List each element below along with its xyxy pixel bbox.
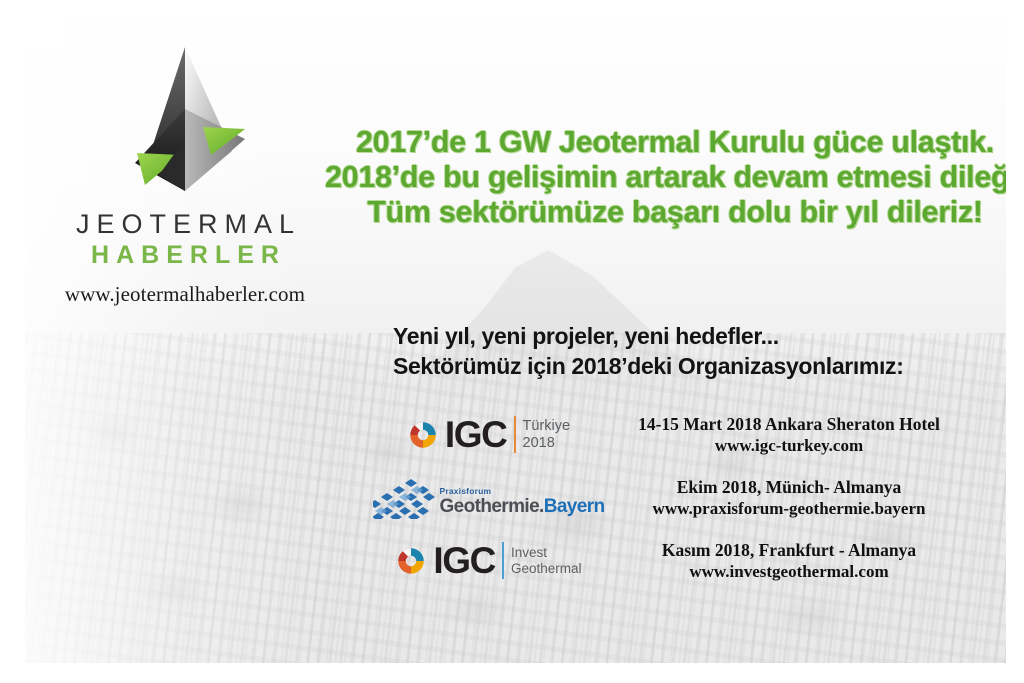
subheading-line-1: Yeni yıl, yeni projeler, yeni hedefler..… — [393, 321, 904, 351]
event-date-venue: Kasım 2018, Frankfurt - Almanya — [593, 540, 985, 561]
event-url[interactable]: www.igc-turkey.com — [593, 435, 985, 456]
events-list: IGC Türkiye 2018 14-15 Mart 2018 Ankara … — [385, 403, 985, 592]
headline-line-2: 2018’de bu gelişimin artarak devam etmes… — [325, 160, 1006, 195]
event-logo-cell[interactable]: IGC Invest Geothermal — [385, 542, 593, 579]
poster-canvas: JEOTERMAL HABERLER www.jeotermalhaberler… — [25, 18, 1006, 663]
bayern-main-label: Geothermie.Bayern — [439, 497, 604, 516]
event-info-cell: 14-15 Mart 2018 Ankara Sheraton Hotel ww… — [593, 414, 985, 456]
headline-line-1: 2017’de 1 GW Jeotermal Kurulu güce ulaşt… — [325, 125, 1006, 160]
headline-block: 2017’de 1 GW Jeotermal Kurulu güce ulaşt… — [325, 125, 1006, 230]
igc-donut-icon — [408, 420, 438, 450]
igc-invest-geothermal-logo[interactable]: IGC Invest Geothermal — [396, 542, 581, 579]
igc-sublabel-line-2: 2018 — [523, 435, 571, 452]
igc-donut-icon — [396, 546, 426, 576]
event-url[interactable]: www.investgeothermal.com — [593, 561, 985, 582]
event-info-cell: Ekim 2018, Münich- Almanya www.praxisfor… — [593, 477, 985, 519]
subheading-line-2: Sektörümüz için 2018’deki Organizasyonla… — [393, 351, 904, 381]
event-url[interactable]: www.praxisforum-geothermie.bayern — [593, 498, 985, 519]
event-logo-cell[interactable]: IGC Türkiye 2018 — [385, 416, 593, 453]
bayern-wordmark: Praxisforum Geothermie.Bayern — [439, 487, 604, 519]
praxisforum-geothermie-bayern-logo[interactable]: Praxisforum Geothermie.Bayern — [373, 477, 604, 519]
brand-block: JEOTERMAL HABERLER www.jeotermalhaberler… — [30, 43, 340, 307]
igc-sublabel: Türkiye 2018 — [523, 418, 571, 452]
igc-divider-rule — [502, 542, 504, 579]
subheading-block: Yeni yıl, yeni projeler, yeni hedefler..… — [393, 321, 904, 381]
igc-wordmark: IGC — [445, 416, 507, 453]
brand-name-primary: JEOTERMAL — [30, 209, 340, 240]
headline-line-3: Tüm sektörümüze başarı dolu bir yıl dile… — [325, 195, 1006, 230]
event-info-cell: Kasım 2018, Frankfurt - Almanya www.inve… — [593, 540, 985, 582]
event-date-venue: 14-15 Mart 2018 Ankara Sheraton Hotel — [593, 414, 985, 435]
igc-sublabel-line-1: Invest — [511, 545, 582, 561]
brand-website-url: www.jeotermalhaberler.com — [30, 282, 340, 307]
event-row: IGC Invest Geothermal Kasım 2018, Frankf… — [385, 529, 985, 592]
igc-sublabel-line-2: Geothermal — [511, 561, 582, 577]
event-date-venue: Ekim 2018, Münich- Almanya — [593, 477, 985, 498]
jeotermal-pyramid-logo-icon — [85, 43, 285, 203]
event-row: IGC Türkiye 2018 14-15 Mart 2018 Ankara … — [385, 403, 985, 466]
event-row: Praxisforum Geothermie.Bayern Ekim 2018,… — [385, 466, 985, 529]
igc-sublabel: Invest Geothermal — [511, 545, 582, 577]
poster: JEOTERMAL HABERLER www.jeotermalhaberler… — [0, 0, 1024, 683]
event-logo-cell[interactable]: Praxisforum Geothermie.Bayern — [385, 477, 593, 519]
bayern-main-part-a: Geothermie. — [439, 496, 543, 517]
igc-turkiye-logo[interactable]: IGC Türkiye 2018 — [408, 416, 570, 453]
igc-divider-rule — [514, 416, 516, 453]
brand-name-secondary: HABERLER — [30, 241, 340, 270]
igc-wordmark: IGC — [433, 542, 495, 579]
bavarian-checker-diamond-icon — [373, 477, 435, 519]
bayern-eyebrow-label: Praxisforum — [439, 487, 604, 496]
igc-sublabel-line-1: Türkiye — [523, 418, 571, 435]
